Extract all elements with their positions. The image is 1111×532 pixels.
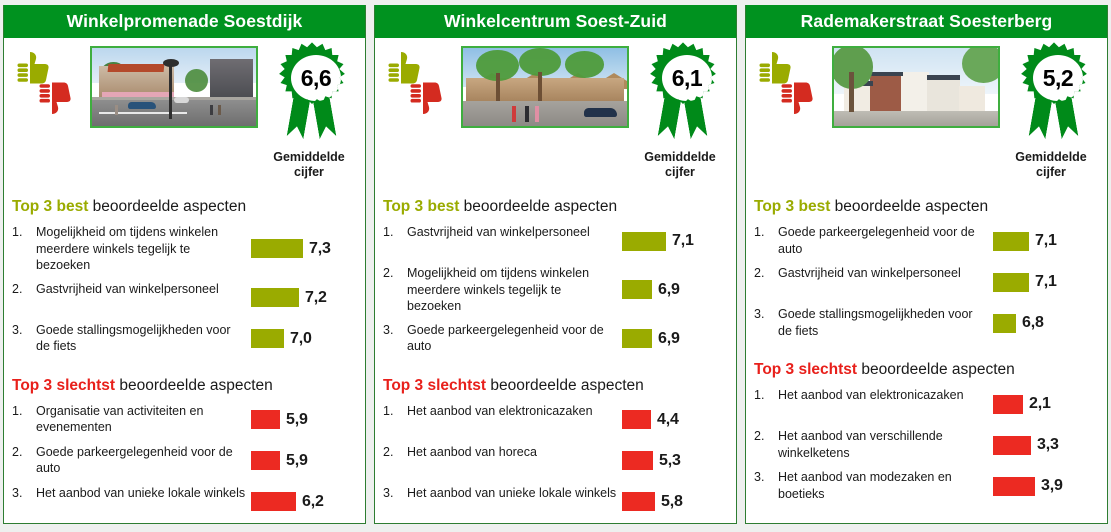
section-worst-rest: beoordeelde aspecten (486, 377, 644, 394)
panel-hero: 6,1 Gemiddelde cijfer (381, 46, 730, 146)
section-best-rest: beoordeelde aspecten (830, 198, 988, 215)
aspect-label: Het aanbod van elektronicazaken (407, 403, 622, 420)
aspect-row-best-3: 3. Goede stallingsmogelijkheden voor de … (754, 302, 1099, 343)
aspect-meter: 5,9 (251, 451, 357, 470)
section-best-rest: beoordeelde aspecten (88, 198, 246, 215)
best-rows: 1. Mogelijkheid om tijdens winkelen meer… (12, 220, 357, 359)
average-grade-value: 5,2 (1043, 67, 1073, 90)
section-worst-title: Top 3 slechtst beoordeelde aspecten (383, 377, 728, 395)
aspect-row-worst-3: 3. Het aanbod van unieke lokale winkels … (383, 481, 728, 522)
average-grade-rosette: 6,1 (644, 42, 722, 150)
area-photo (832, 46, 1000, 128)
average-grade-caption: Gemiddelde cijfer (263, 150, 355, 180)
photo-artwork (92, 48, 256, 126)
thumbs-down-icon (780, 78, 814, 116)
aspect-label: Goede parkeergelegenheid voor de auto (778, 224, 993, 257)
aspect-row-worst-1: 1. Organisatie van activiteiten en evene… (12, 399, 357, 440)
aspect-meter: 6,8 (993, 314, 1099, 333)
aspect-score: 7,3 (309, 240, 331, 258)
aspect-score: 6,9 (658, 281, 680, 299)
area-panel-2: Winkelcentrum Soest-Zuid (374, 5, 737, 524)
aspect-row-worst-2: 2. Het aanbod van verschillende winkelke… (754, 424, 1099, 465)
section-worst-title: Top 3 slechtst beoordeelde aspecten (754, 361, 1099, 379)
aspect-score: 2,1 (1029, 395, 1051, 413)
aspect-score: 6,8 (1022, 314, 1044, 332)
aspect-rank: 3. (383, 322, 407, 337)
aspect-score: 4,4 (657, 411, 679, 429)
average-grade-caption: Gemiddelde cijfer (634, 150, 726, 180)
section-worst-keyword: Top 3 slechtst (754, 361, 857, 378)
photo-artwork (834, 48, 998, 126)
panel-grid: Winkelpromenade Soestdijk (0, 0, 1111, 532)
aspect-row-best-2: 2. Mogelijkheid om tijdens winkelen meer… (383, 261, 728, 318)
aspect-score: 3,9 (1041, 477, 1063, 495)
aspect-rank: 3. (383, 485, 407, 500)
section-best-rest: beoordeelde aspecten (459, 198, 617, 215)
aspect-label: Mogelijkheid om tijdens winkelen meerder… (407, 265, 622, 315)
aspect-bar (622, 451, 653, 470)
aspect-rank: 2. (383, 444, 407, 459)
aspect-score: 6,2 (302, 493, 324, 511)
average-grade-caption: Gemiddelde cijfer (1005, 150, 1097, 180)
aspect-label: Het aanbod van unieke lokale winkels (36, 485, 251, 502)
aspect-rank: 2. (12, 281, 36, 296)
section-best-keyword: Top 3 best (12, 198, 88, 215)
infographic-page: Winkelpromenade Soestdijk (0, 0, 1111, 532)
section-worst: Top 3 slechtst beoordeelde aspecten 1. H… (383, 377, 728, 522)
average-grade-value: 6,6 (301, 67, 331, 90)
aspect-row-best-2: 2. Gastvrijheid van winkelpersoneel 7,2 (12, 277, 357, 318)
aspect-meter: 5,9 (251, 410, 357, 429)
aspect-score: 7,2 (305, 289, 327, 307)
worst-rows: 1. Het aanbod van elektronicazaken 4,4 2… (383, 399, 728, 522)
section-best-title: Top 3 best beoordeelde aspecten (383, 198, 728, 216)
aspect-row-worst-2: 2. Goede parkeergelegenheid voor de auto… (12, 440, 357, 481)
aspect-label: Goede stallingsmogelijkheden voor de fie… (778, 306, 993, 339)
section-worst-keyword: Top 3 slechtst (383, 377, 486, 394)
aspect-rank: 3. (12, 485, 36, 500)
aspect-label: Gastvrijheid van winkelpersoneel (36, 281, 251, 298)
aspect-label: Gastvrijheid van winkelpersoneel (407, 224, 622, 241)
rating-thumbs (14, 50, 84, 132)
aspect-rank: 2. (383, 265, 407, 280)
rating-thumbs (756, 50, 826, 132)
aspect-score: 5,9 (286, 452, 308, 470)
aspect-meter: 7,1 (993, 273, 1099, 292)
aspect-rank: 1. (12, 403, 36, 418)
thumbs-down-icon (409, 78, 443, 116)
area-panel-1: Winkelpromenade Soestdijk (3, 5, 366, 524)
photo-artwork (463, 48, 627, 126)
aspect-label: Goede parkeergelegenheid voor de auto (407, 322, 622, 355)
section-worst: Top 3 slechtst beoordeelde aspecten 1. H… (754, 361, 1099, 506)
aspect-row-best-3: 3. Goede stallingsmogelijkheden voor de … (12, 318, 357, 359)
aspect-rank: 3. (754, 306, 778, 321)
aspect-meter: 7,1 (622, 232, 728, 251)
section-best-title: Top 3 best beoordeelde aspecten (754, 198, 1099, 216)
aspect-row-worst-1: 1. Het aanbod van elektronicazaken 2,1 (754, 383, 1099, 424)
aspect-bar (622, 329, 652, 348)
aspect-bar (251, 492, 296, 511)
aspect-meter: 4,4 (622, 410, 728, 429)
aspect-rank: 1. (383, 403, 407, 418)
aspect-bar (622, 280, 652, 299)
aspect-rank: 3. (754, 469, 778, 484)
panel-body: 5,2 Gemiddelde cijfer Top 3 best beoorde… (746, 38, 1107, 523)
aspect-meter: 6,9 (622, 280, 728, 299)
aspect-rank: 1. (754, 224, 778, 239)
aspect-bar (993, 477, 1035, 496)
rating-thumbs (385, 50, 455, 132)
aspect-meter: 6,2 (251, 492, 357, 511)
best-rows: 1. Goede parkeergelegenheid voor de auto… (754, 220, 1099, 343)
aspect-score: 7,1 (1035, 273, 1057, 291)
panel-title: Winkelcentrum Soest-Zuid (375, 5, 736, 38)
aspect-rank: 3. (12, 322, 36, 337)
aspect-meter: 3,9 (993, 477, 1099, 496)
aspect-meter: 5,3 (622, 451, 728, 470)
aspect-bar (251, 329, 284, 348)
average-grade-rosette: 5,2 (1015, 42, 1093, 150)
aspect-row-worst-2: 2. Het aanbod van horeca 5,3 (383, 440, 728, 481)
aspect-row-worst-1: 1. Het aanbod van elektronicazaken 4,4 (383, 399, 728, 440)
aspect-rank: 1. (12, 224, 36, 239)
section-best-title: Top 3 best beoordeelde aspecten (12, 198, 357, 216)
aspect-meter: 5,8 (622, 492, 728, 511)
aspect-bar (993, 395, 1023, 414)
aspect-row-worst-3: 3. Het aanbod van modezaken en boetieks … (754, 465, 1099, 506)
aspect-bar (993, 314, 1016, 333)
aspect-row-best-2: 2. Gastvrijheid van winkelpersoneel 7,1 (754, 261, 1099, 302)
aspect-score: 5,3 (659, 452, 681, 470)
area-photo (90, 46, 258, 128)
aspect-score: 5,8 (661, 493, 683, 511)
aspect-row-best-1: 1. Goede parkeergelegenheid voor de auto… (754, 220, 1099, 261)
aspect-score: 3,3 (1037, 436, 1059, 454)
worst-rows: 1. Organisatie van activiteiten en evene… (12, 399, 357, 522)
aspect-meter: 2,1 (993, 395, 1099, 414)
aspect-label: Goede parkeergelegenheid voor de auto (36, 444, 251, 477)
aspect-meter: 7,0 (251, 329, 357, 348)
aspect-rank: 2. (754, 428, 778, 443)
aspect-score: 7,1 (1035, 232, 1057, 250)
aspect-score: 7,0 (290, 330, 312, 348)
aspect-label: Het aanbod van elektronicazaken (778, 387, 993, 404)
aspect-meter: 6,9 (622, 329, 728, 348)
section-best: Top 3 best beoordeelde aspecten 1. Gastv… (383, 198, 728, 358)
aspect-row-best-1: 1. Mogelijkheid om tijdens winkelen meer… (12, 220, 357, 277)
aspect-score: 6,9 (658, 330, 680, 348)
section-worst: Top 3 slechtst beoordeelde aspecten 1. O… (12, 377, 357, 522)
section-worst-keyword: Top 3 slechtst (12, 377, 115, 394)
section-worst-rest: beoordeelde aspecten (857, 361, 1015, 378)
aspect-bar (251, 451, 280, 470)
section-worst-rest: beoordeelde aspecten (115, 377, 273, 394)
aspect-meter: 3,3 (993, 436, 1099, 455)
section-worst-title: Top 3 slechtst beoordeelde aspecten (12, 377, 357, 395)
aspect-bar (622, 410, 651, 429)
aspect-bar (251, 288, 299, 307)
aspect-label: Organisatie van activiteiten en evenemen… (36, 403, 251, 436)
area-panel-3: Rademakerstraat Soesterberg (745, 5, 1108, 524)
panel-title: Rademakerstraat Soesterberg (746, 5, 1107, 38)
aspect-meter: 7,2 (251, 288, 357, 307)
aspect-rank: 2. (12, 444, 36, 459)
aspect-meter: 7,1 (993, 232, 1099, 251)
average-grade-value: 6,1 (672, 67, 702, 90)
aspect-bar (993, 436, 1031, 455)
panel-body: 6,6 Gemiddelde cijfer Top 3 best beoorde… (4, 38, 365, 523)
aspect-label: Goede stallingsmogelijkheden voor de fie… (36, 322, 251, 355)
aspect-label: Mogelijkheid om tijdens winkelen meerder… (36, 224, 251, 274)
aspect-score: 7,1 (672, 232, 694, 250)
section-best-keyword: Top 3 best (754, 198, 830, 215)
thumbs-down-icon (38, 78, 72, 116)
aspect-score: 5,9 (286, 411, 308, 429)
aspect-meter: 7,3 (251, 239, 357, 258)
aspect-bar (993, 273, 1029, 292)
aspect-rank: 1. (383, 224, 407, 239)
aspect-row-worst-3: 3. Het aanbod van unieke lokale winkels … (12, 481, 357, 522)
aspect-label: Het aanbod van modezaken en boetieks (778, 469, 993, 502)
panel-hero: 6,6 Gemiddelde cijfer (10, 46, 359, 146)
aspect-label: Het aanbod van horeca (407, 444, 622, 461)
area-photo (461, 46, 629, 128)
panel-title: Winkelpromenade Soestdijk (4, 5, 365, 38)
worst-rows: 1. Het aanbod van elektronicazaken 2,1 2… (754, 383, 1099, 506)
aspect-bar (622, 492, 655, 511)
section-best-keyword: Top 3 best (383, 198, 459, 215)
aspect-row-best-1: 1. Gastvrijheid van winkelpersoneel 7,1 (383, 220, 728, 261)
panel-body: 6,1 Gemiddelde cijfer Top 3 best beoorde… (375, 38, 736, 523)
aspect-bar (993, 232, 1029, 251)
aspect-rank: 2. (754, 265, 778, 280)
aspect-label: Het aanbod van verschillende winkelketen… (778, 428, 993, 461)
aspect-bar (251, 239, 303, 258)
section-best: Top 3 best beoordeelde aspecten 1. Goede… (754, 198, 1099, 343)
average-grade-rosette: 6,6 (273, 42, 351, 150)
aspect-bar (622, 232, 666, 251)
aspect-label: Gastvrijheid van winkelpersoneel (778, 265, 993, 282)
section-best: Top 3 best beoordeelde aspecten 1. Mogel… (12, 198, 357, 358)
aspect-rank: 1. (754, 387, 778, 402)
best-rows: 1. Gastvrijheid van winkelpersoneel 7,1 … (383, 220, 728, 359)
aspect-row-best-3: 3. Goede parkeergelegenheid voor de auto… (383, 318, 728, 359)
panel-hero: 5,2 Gemiddelde cijfer (752, 46, 1101, 146)
aspect-label: Het aanbod van unieke lokale winkels (407, 485, 622, 502)
aspect-bar (251, 410, 280, 429)
